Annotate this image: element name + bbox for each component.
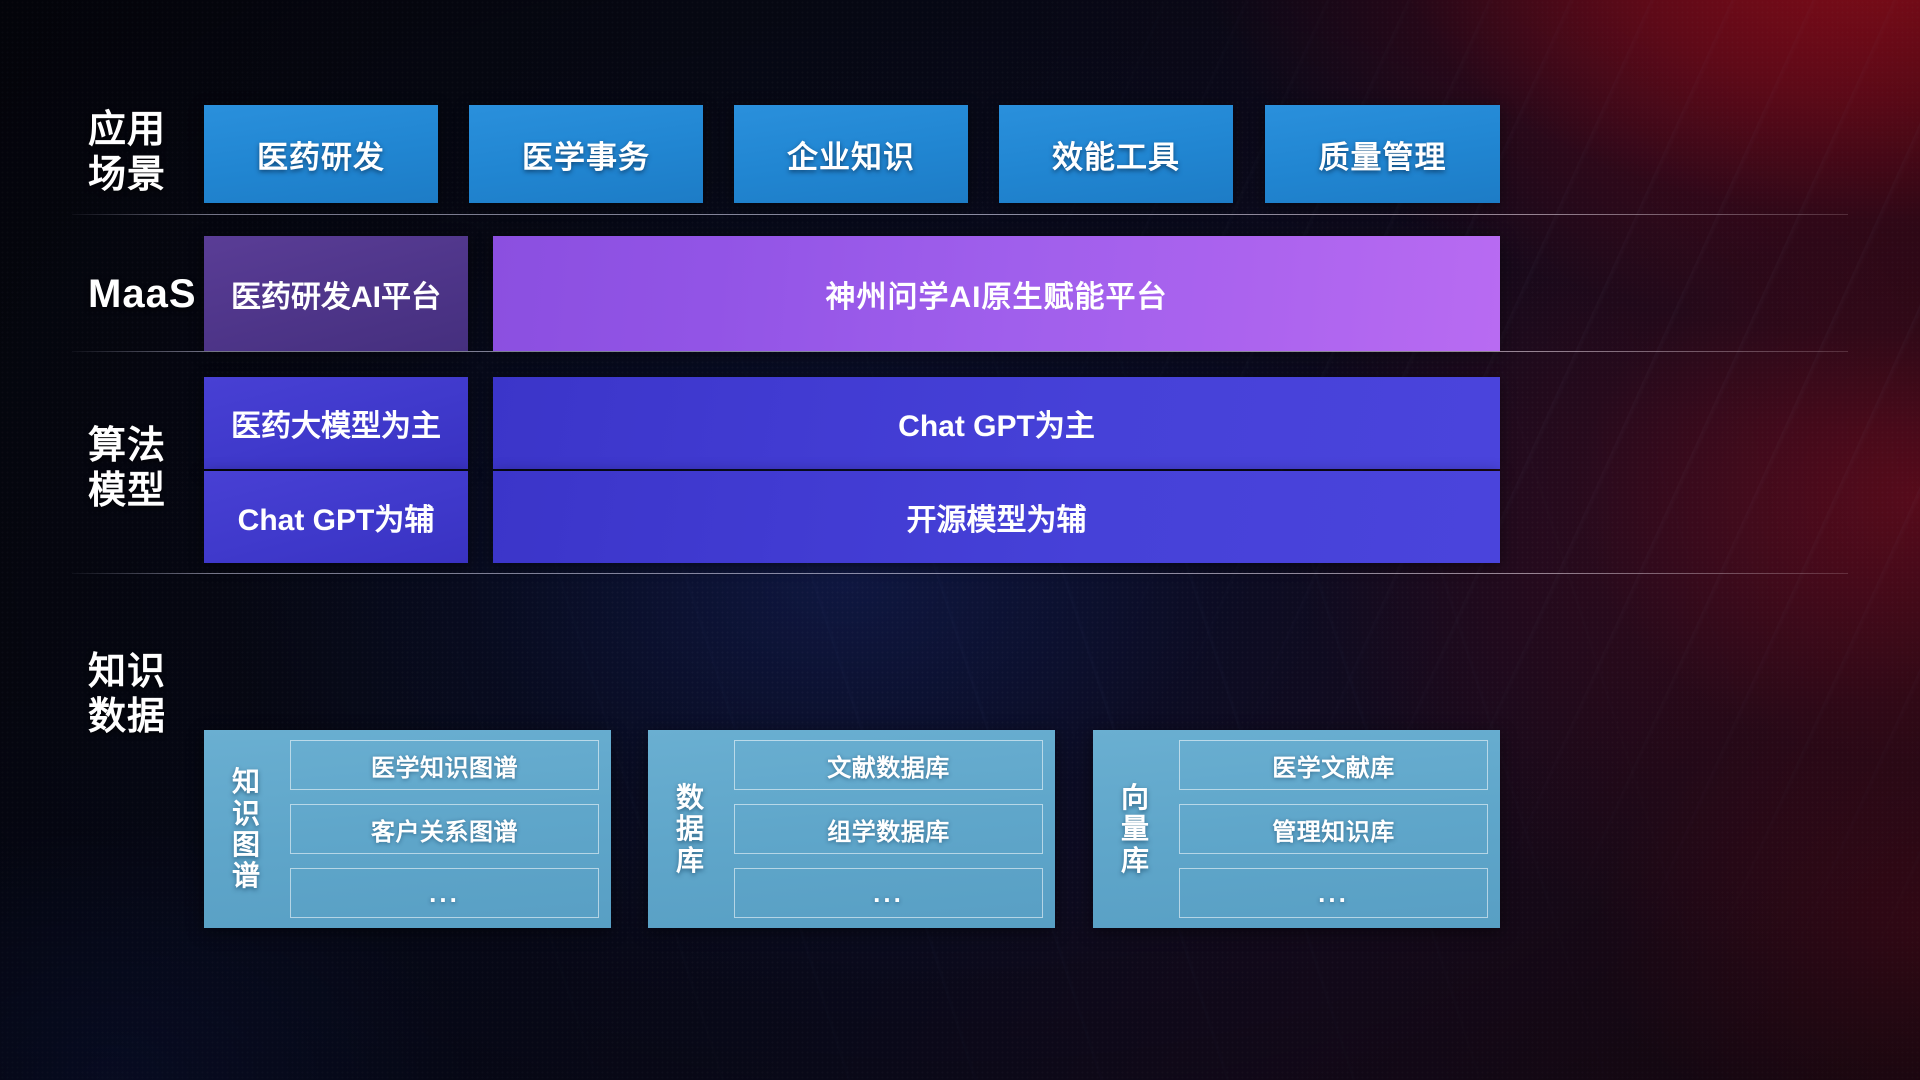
app-scenario-box-1[interactable]: 医药研发 (204, 105, 438, 203)
algo-row1-wide-label: Chat GPT为主 (898, 401, 1095, 445)
knowledge-card-1-items: 医学知识图谱 客户关系图谱 ... (278, 740, 599, 918)
knowledge-card-1-item-1[interactable]: 医学知识图谱 (290, 740, 599, 790)
app-scenario-label-4: 效能工具 (1052, 132, 1180, 177)
app-scenario-box-2[interactable]: 医学事务 (469, 105, 703, 203)
architecture-diagram: 应用 场景 医药研发 医学事务 企业知识 效能工具 质量管理 MaaS 医药研发… (0, 0, 1920, 1080)
knowledge-card-2-item-2[interactable]: 组学数据库 (734, 804, 1043, 854)
algo-row2-narrow-box[interactable]: Chat GPT为辅 (204, 471, 468, 563)
algo-row2-wide-label: 开源模型为辅 (907, 495, 1087, 539)
knowledge-card-2-label: 数 据 库 (658, 740, 722, 918)
algo-row1-narrow-box[interactable]: 医药大模型为主 (204, 377, 468, 469)
knowledge-card-3-label: 向 量 库 (1103, 740, 1167, 918)
knowledge-card-database[interactable]: 数 据 库 文献数据库 组学数据库 ... (648, 730, 1055, 928)
maas-enablement-platform-box[interactable]: 神州问学AI原生赋能平台 (493, 236, 1500, 351)
app-scenario-label-5: 质量管理 (1319, 132, 1447, 177)
maas-platform-box[interactable]: 医药研发AI平台 (204, 236, 468, 351)
knowledge-card-2-label-char-1: 数 (676, 782, 704, 813)
algo-row1-narrow-label: 医药大模型为主 (231, 401, 441, 445)
tier-label-knowledge-data: 知识 数据 (88, 650, 208, 740)
tier-label-algorithm-models: 算法 模型 (88, 424, 208, 514)
tier-label-knowledge-line-1: 知识 (88, 650, 208, 695)
algo-row2-wide-box[interactable]: 开源模型为辅 (493, 471, 1500, 563)
knowledge-card-1-item-2[interactable]: 客户关系图谱 (290, 804, 599, 854)
app-scenario-box-3[interactable]: 企业知识 (734, 105, 968, 203)
knowledge-card-knowledge-graph[interactable]: 知 识 图 谱 医学知识图谱 客户关系图谱 ... (204, 730, 611, 928)
tier-label-knowledge-line-2: 数据 (88, 695, 208, 740)
maas-enablement-platform-label: 神州问学AI原生赋能平台 (826, 272, 1168, 316)
app-scenario-label-3: 企业知识 (787, 132, 915, 177)
maas-platform-label: 医药研发AI平台 (231, 272, 441, 316)
tier-label-algo-line-1: 算法 (88, 424, 208, 469)
app-scenario-box-5[interactable]: 质量管理 (1265, 105, 1500, 203)
tier-label-maas: MaaS (88, 271, 208, 318)
knowledge-card-vector-store[interactable]: 向 量 库 医学文献库 管理知识库 ... (1093, 730, 1500, 928)
knowledge-card-3-items: 医学文献库 管理知识库 ... (1167, 740, 1488, 918)
knowledge-card-1-label-char-4: 谱 (232, 860, 260, 891)
tier-label-algo-line-2: 模型 (88, 469, 208, 514)
algo-row2-narrow-label: Chat GPT为辅 (238, 495, 435, 539)
knowledge-card-2-item-1[interactable]: 文献数据库 (734, 740, 1043, 790)
knowledge-card-3-label-char-3: 库 (1121, 845, 1149, 876)
tier-label-application-scenarios: 应用 场景 (88, 108, 208, 198)
knowledge-card-2-label-char-3: 库 (676, 845, 704, 876)
divider-1 (72, 214, 1848, 215)
knowledge-card-3-item-2[interactable]: 管理知识库 (1179, 804, 1488, 854)
app-scenario-label-2: 医学事务 (522, 132, 650, 177)
app-scenario-label-1: 医药研发 (257, 132, 385, 177)
knowledge-card-1-label: 知 识 图 谱 (214, 740, 278, 918)
tier-label-line-2: 场景 (88, 153, 208, 198)
knowledge-card-1-label-char-2: 识 (232, 798, 260, 829)
knowledge-card-3-item-3[interactable]: ... (1179, 868, 1488, 918)
knowledge-card-1-label-char-3: 图 (232, 829, 260, 860)
tier-label-line-1: 应用 (88, 108, 208, 153)
knowledge-card-2-item-3[interactable]: ... (734, 868, 1043, 918)
knowledge-card-2-label-char-2: 据 (676, 813, 704, 844)
knowledge-card-1-item-3[interactable]: ... (290, 868, 599, 918)
tier-label-maas-text: MaaS (88, 271, 208, 318)
algo-row1-wide-box[interactable]: Chat GPT为主 (493, 377, 1500, 469)
knowledge-card-1-label-char-1: 知 (232, 766, 260, 797)
divider-3 (72, 573, 1848, 574)
knowledge-card-3-item-1[interactable]: 医学文献库 (1179, 740, 1488, 790)
knowledge-card-2-items: 文献数据库 组学数据库 ... (722, 740, 1043, 918)
knowledge-card-3-label-char-1: 向 (1121, 782, 1149, 813)
app-scenario-box-4[interactable]: 效能工具 (999, 105, 1233, 203)
divider-2 (72, 351, 1848, 352)
knowledge-card-3-label-char-2: 量 (1121, 813, 1149, 844)
